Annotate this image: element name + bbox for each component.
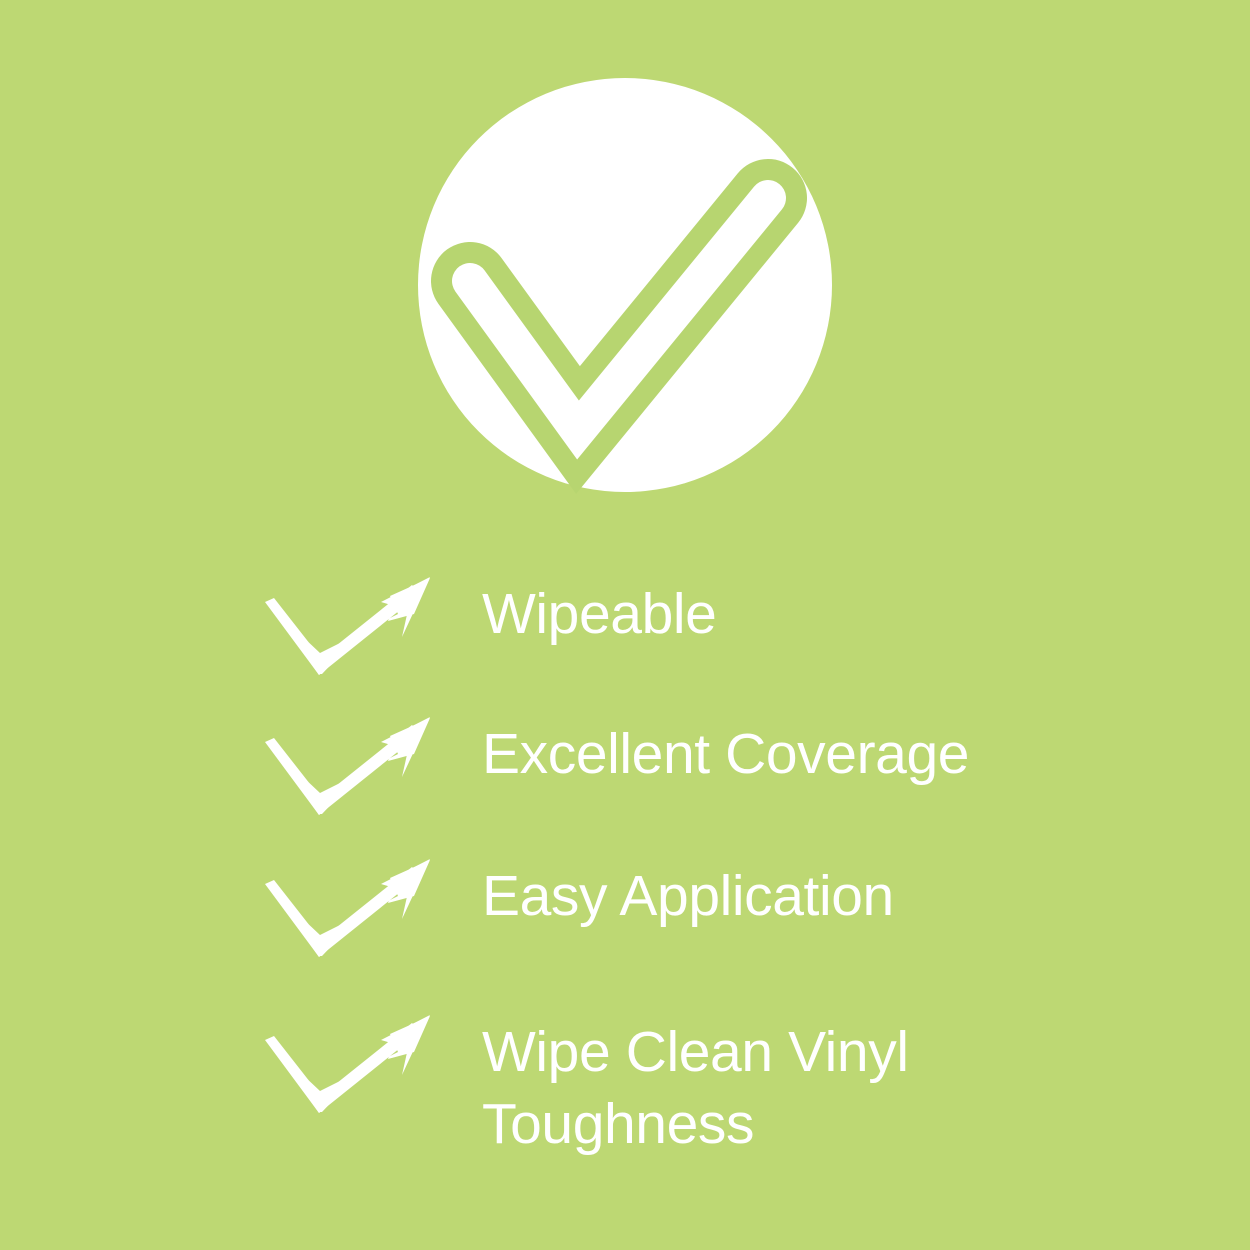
list-item-label: Wipeable — [482, 578, 716, 650]
list-item-label: Wipe Clean Vinyl Toughness — [482, 1016, 909, 1160]
check-arrow-icon — [262, 856, 437, 964]
list-item-label: Excellent Coverage — [482, 718, 969, 790]
list-item: Excellent Coverage — [262, 712, 969, 822]
list-item: Easy Application — [262, 854, 894, 964]
check-arrow-icon — [262, 714, 437, 822]
check-badge — [418, 76, 832, 496]
list-item-label: Easy Application — [482, 860, 894, 932]
check-arrow-icon — [262, 574, 437, 682]
list-item: Wipe Clean Vinyl Toughness — [262, 1010, 909, 1160]
check-arrow-icon — [262, 1012, 437, 1120]
list-item: Wipeable — [262, 572, 716, 682]
feature-poster: Wipeable Excellent Coverage — [0, 0, 1250, 1250]
